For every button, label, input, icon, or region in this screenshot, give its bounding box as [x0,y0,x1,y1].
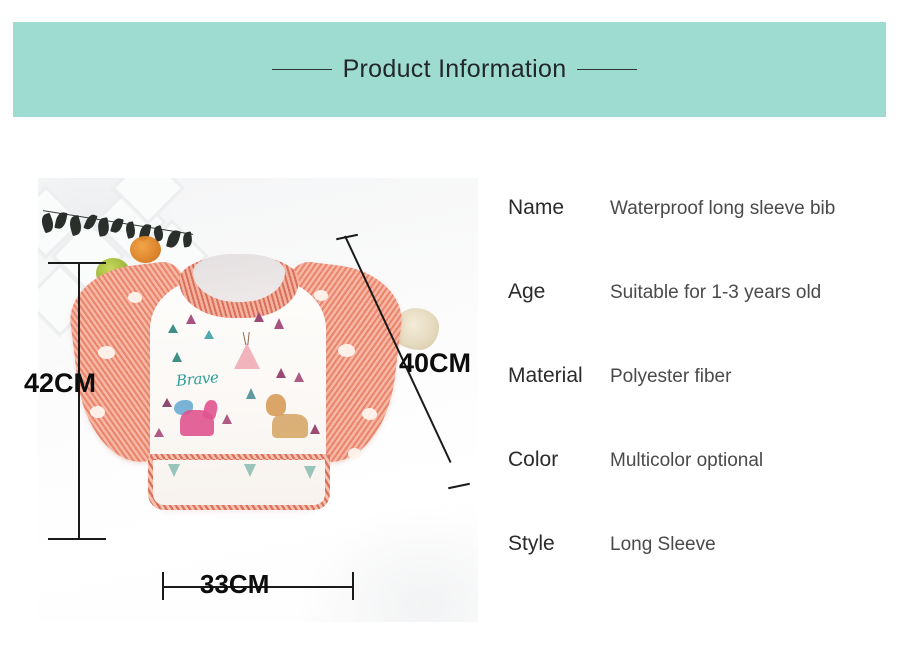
spec-row-age: Age Suitable for 1-3 years old [508,280,888,364]
spec-label-material: Material [508,364,610,388]
sleeve-dot [314,290,328,301]
sleeve-dot [348,448,361,459]
measure-cap-height-top [48,262,106,264]
print-triangle [186,314,196,324]
sleeve-dot [362,408,377,420]
spec-value-color: Multicolor optional [610,450,763,472]
sleeve-dot [98,346,115,359]
print-triangle [276,368,286,378]
print-triangle [204,330,214,339]
spec-label-color: Color [508,448,610,472]
page-title: Product Information [332,55,578,84]
print-triangle [222,414,232,424]
spec-row-color: Color Multicolor optional [508,448,888,532]
sleeve-dot [128,292,142,303]
measure-label-height: 42CM [24,368,96,399]
print-fox [272,414,308,438]
spec-label-age: Age [508,280,610,304]
measure-cap-height-bottom [48,538,106,540]
print-flag-triangle [304,466,316,479]
measure-cap-width-right [352,572,354,600]
print-triangle [246,388,256,399]
spec-value-name: Waterproof long sleeve bib [610,198,835,220]
spec-value-style: Long Sleeve [610,534,716,556]
print-brave-text: Brave [175,368,219,390]
bib-garment: Brave [76,248,396,548]
print-flag-triangle [168,464,180,477]
measure-line-height [78,262,80,540]
print-triangle [274,318,284,329]
print-teepee [234,343,260,369]
product-photo: Brave [38,178,478,622]
print-triangle [154,428,164,437]
bib-pocket [148,454,330,510]
print-flag-triangle [244,464,256,477]
spec-value-age: Suitable for 1-3 years old [610,282,821,304]
spec-label-name: Name [508,196,610,220]
spec-row-style: Style Long Sleeve [508,532,888,616]
print-triangle [294,372,304,382]
print-triangle [168,324,178,333]
title-rule-left [272,69,332,71]
spec-row-material: Material Polyester fiber [508,364,888,448]
measure-label-width: 33CM [200,569,269,600]
header-title-group: Product Information [13,22,886,117]
header-banner: Product Information [13,22,886,117]
spec-row-name: Name Waterproof long sleeve bib [508,196,888,280]
spec-table: Name Waterproof long sleeve bib Age Suit… [508,196,888,616]
print-fox-head [266,394,286,416]
print-triangle [162,398,172,407]
measure-cap-width-left [162,572,164,600]
sleeve-dot [90,406,105,418]
print-triangle [254,312,264,322]
spec-value-material: Polyester fiber [610,366,731,388]
sleeve-dot [338,344,355,357]
measure-label-sleeve: 40CM [399,348,471,379]
spec-label-style: Style [508,532,610,556]
title-rule-right [577,69,637,71]
print-triangle [310,424,320,434]
print-triangle [172,352,182,362]
